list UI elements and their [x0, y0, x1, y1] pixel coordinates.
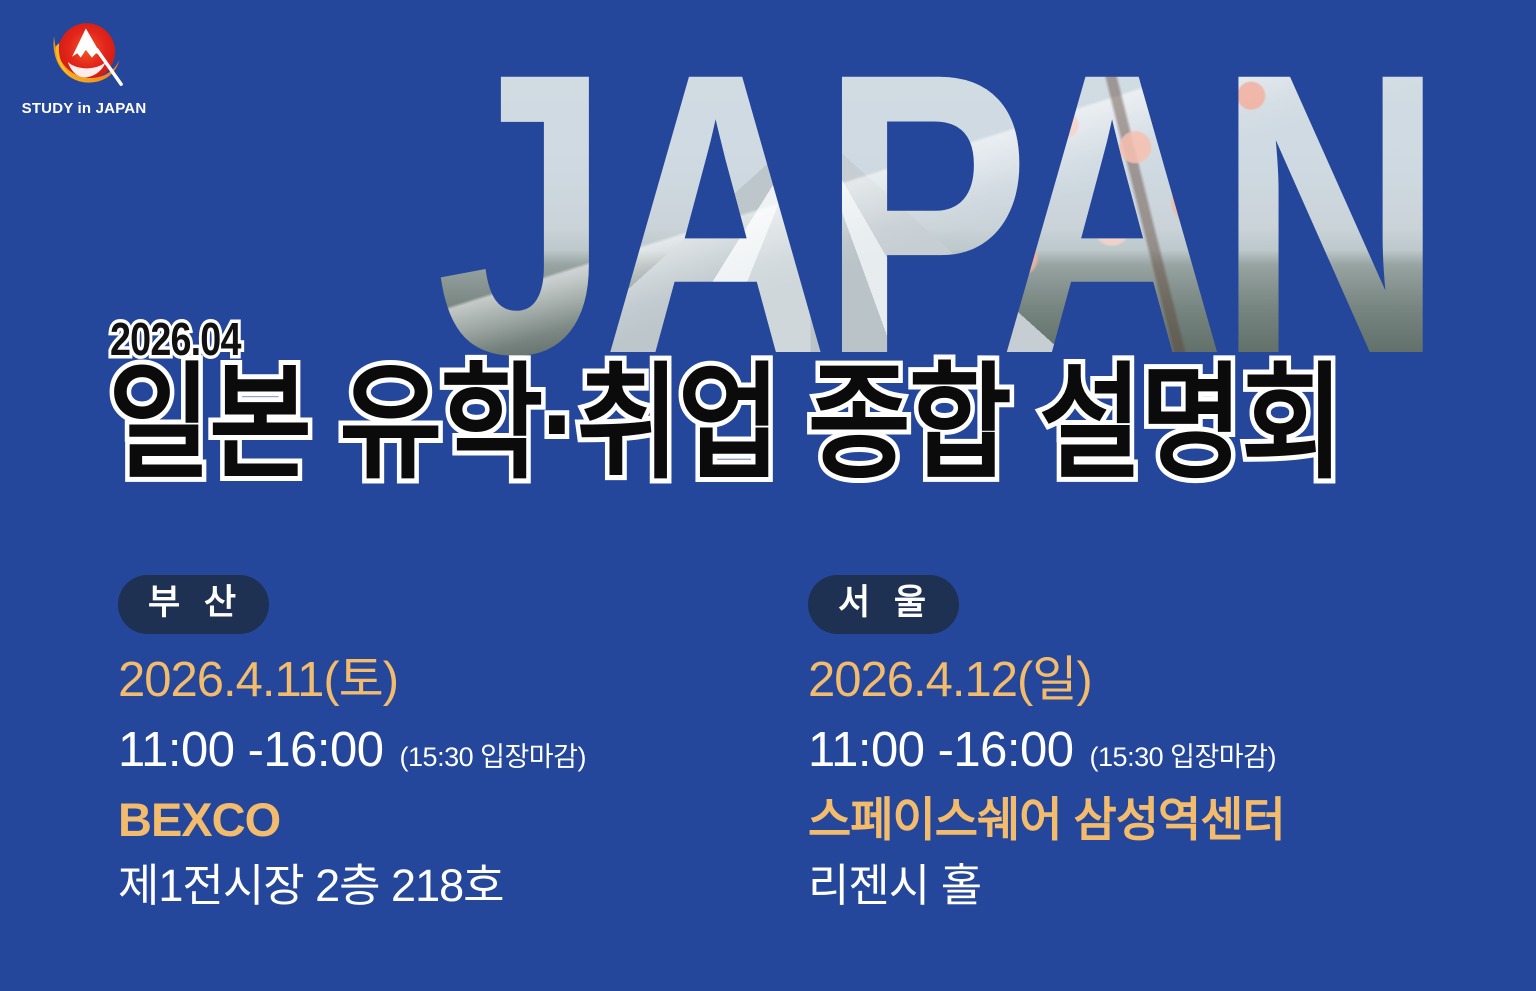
- city-badge-seoul: 서 울: [808, 575, 959, 634]
- session-venue-detail-seoul: 리젠시 홀: [808, 859, 1448, 912]
- page-title: 일본 유학·취업 종합 설명회: [108, 358, 1342, 490]
- mount-fuji-rising-sun-icon: [42, 12, 128, 98]
- session-time-note-seoul: (15:30 입장마감): [1090, 735, 1276, 774]
- city-badge-busan: 부 산: [118, 575, 269, 634]
- poster-root: JAPAN: [0, 0, 1536, 991]
- session-venue-busan: BEXCO: [118, 792, 758, 847]
- session-time-row-seoul: 11:00 -16:00 (15:30 입장마감): [808, 722, 1448, 778]
- sessions-container: 부 산 2026.4.11(토) 11:00 -16:00 (15:30 입장마…: [0, 575, 1536, 935]
- study-in-japan-logo: STUDY in JAPAN: [18, 12, 150, 132]
- session-time-row-busan: 11:00 -16:00 (15:30 입장마감): [118, 722, 758, 778]
- session-venue-detail-busan: 제1전시장 2층 218호: [118, 859, 758, 912]
- session-time-note-busan: (15:30 입장마감): [400, 735, 586, 774]
- mount-fuji-sakura-photo: [300, 0, 1460, 368]
- session-time-busan: 11:00 -16:00: [118, 722, 384, 778]
- session-busan: 부 산 2026.4.11(토) 11:00 -16:00 (15:30 입장마…: [118, 575, 758, 912]
- session-seoul: 서 울 2026.4.12(일) 11:00 -16:00 (15:30 입장마…: [808, 575, 1448, 912]
- session-venue-seoul: 스페이스쉐어 삼성역센터: [808, 792, 1448, 847]
- session-time-seoul: 11:00 -16:00: [808, 722, 1074, 778]
- logo-wordmark: STUDY in JAPAN: [18, 100, 150, 117]
- session-date-busan: 2026.4.11(토): [118, 652, 758, 710]
- session-date-seoul: 2026.4.12(일): [808, 652, 1448, 710]
